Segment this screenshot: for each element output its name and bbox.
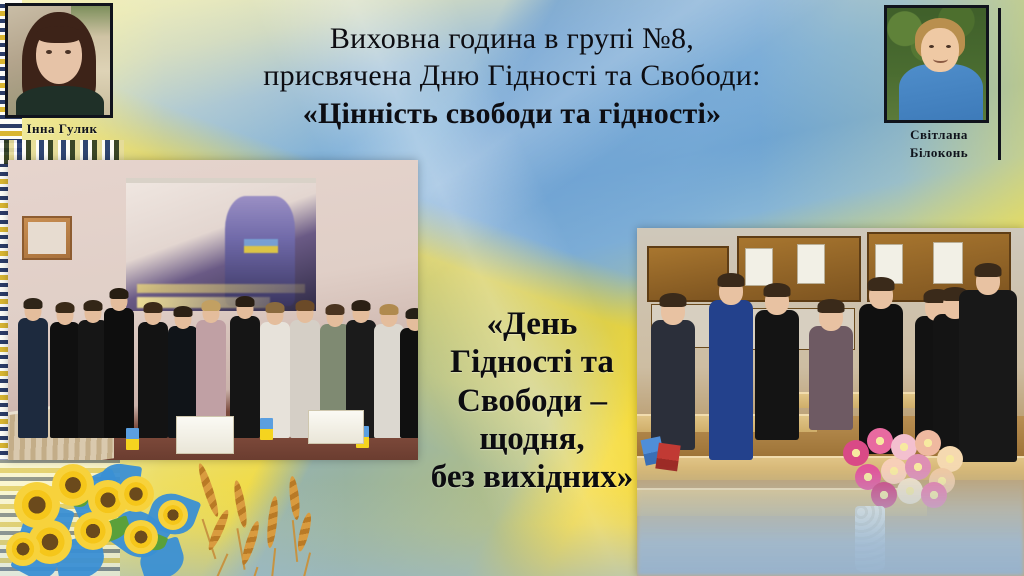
- student-hair: [84, 300, 103, 311]
- handheld-flag: [260, 418, 273, 440]
- photo-group-classroom: [8, 160, 418, 460]
- student-hair: [868, 277, 895, 291]
- flower-bloom: [915, 430, 941, 456]
- student-figure: [50, 322, 80, 438]
- student-hair: [266, 302, 285, 313]
- quote-line-5: без вихідних»: [398, 458, 666, 496]
- portrait-svitlana-bilokon: Світлана Білоконь: [884, 5, 994, 160]
- portrait-inna-hulyk: Інна Гулик: [5, 3, 119, 135]
- eye-left: [929, 45, 934, 48]
- sunflower: [74, 512, 112, 550]
- eye-right: [65, 50, 71, 54]
- photo-bottom-blur: [637, 468, 1024, 576]
- student-hair: [56, 302, 75, 313]
- student-hair: [174, 306, 193, 317]
- framed-certificate: [933, 242, 963, 284]
- student-figure: [230, 316, 260, 438]
- sunflower: [118, 476, 154, 512]
- page-title: Виховна година в групі №8, присвячена Дн…: [132, 22, 892, 131]
- student-hair: [326, 304, 345, 315]
- wheat-stem: [299, 552, 311, 576]
- portrait-photo-svitlana: [884, 5, 989, 123]
- quote-block: «День Гідності та Свободи – щодня, без в…: [398, 305, 666, 496]
- student-hair: [764, 283, 791, 297]
- wheat-stem: [210, 553, 229, 576]
- student-standing: [755, 310, 799, 440]
- fringe-shape: [36, 26, 82, 43]
- student-figure: [104, 308, 134, 438]
- portrait-caption-svitlana-line1: Світлана: [884, 128, 994, 141]
- student-hair: [236, 296, 255, 307]
- torso-shape: [899, 64, 983, 123]
- torso-shape: [16, 86, 104, 118]
- quote-line-2: Гідності та: [398, 343, 666, 381]
- wall-cabinet: [647, 246, 729, 302]
- flower-bloom: [843, 440, 869, 466]
- student-hair: [975, 263, 1002, 277]
- sunflower: [124, 520, 158, 554]
- eye-right: [946, 45, 951, 48]
- portrait-caption-svitlana-line2: Білоконь: [884, 146, 994, 159]
- student-hair: [24, 298, 43, 309]
- wheat-ear: [196, 462, 222, 518]
- quote-line-3: Свободи –: [398, 382, 666, 420]
- wheat-ear: [265, 496, 279, 549]
- wall-shelf: [22, 216, 72, 260]
- sunflower: [6, 532, 40, 566]
- face-shape: [921, 28, 959, 72]
- student-hair: [202, 300, 221, 311]
- student-hair: [718, 273, 745, 287]
- student-hair: [352, 300, 371, 311]
- student-standing: [809, 326, 853, 430]
- certificate-sheet: [308, 410, 364, 444]
- framed-certificate: [745, 248, 773, 286]
- poster-canvas: Виховна година в групі №8, присвячена Дн…: [0, 0, 1024, 576]
- student-standing: [709, 300, 753, 460]
- wheat-ear: [288, 476, 302, 521]
- framed-certificate: [797, 244, 825, 284]
- eye-left: [46, 50, 52, 54]
- projected-flag: [244, 239, 278, 253]
- portrait-photo-inna: [5, 3, 113, 118]
- student-figure: [18, 318, 48, 438]
- quote-line-1: «День: [398, 305, 666, 343]
- student-hair: [110, 288, 129, 299]
- student-hair: [144, 302, 163, 313]
- student-standing: [959, 290, 1017, 462]
- title-line-1: Виховна година в групі №8,: [132, 22, 892, 56]
- student-hair: [380, 304, 399, 315]
- smile-shape: [933, 55, 948, 63]
- wheat-stem: [244, 567, 259, 576]
- portrait-divider-line: [998, 8, 1001, 160]
- photo-students-silence: [637, 228, 1024, 576]
- classroom-desk: [777, 392, 937, 408]
- student-hair: [818, 299, 845, 313]
- projector-screen: [126, 178, 316, 311]
- student-hair: [296, 300, 315, 311]
- sunflower: [158, 500, 188, 530]
- wheat-ear: [205, 508, 231, 552]
- wheat-stem: [270, 548, 276, 576]
- student-figure: [138, 322, 168, 438]
- title-line-3: «Цінність свободи та гідності»: [132, 97, 892, 131]
- quote-line-4: щодня,: [398, 420, 666, 458]
- flower-bloom: [867, 428, 893, 454]
- wheat-ear: [232, 480, 249, 529]
- projected-text-line-1: [137, 284, 304, 293]
- sunflower-wheat-decoration: [0, 446, 380, 576]
- portrait-caption-inna: Інна Гулик: [5, 122, 119, 135]
- title-line-2: присвячена Дню Гідності та Свободи:: [132, 59, 892, 93]
